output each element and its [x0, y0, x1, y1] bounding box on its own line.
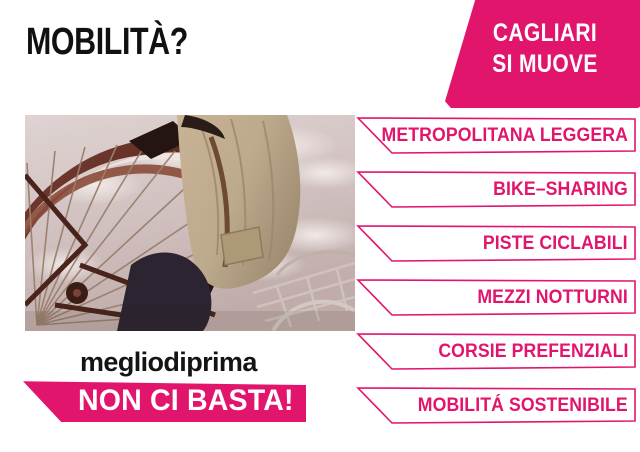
menu-item-label: METROPOLITANA LEGGERA: [382, 125, 628, 147]
brand-title: CAGLIARI SI MUOVE: [469, 18, 620, 80]
menu-item-label: CORSIE PREFENZIALI: [438, 341, 628, 363]
tagline-secondary: NON CI BASTA!: [78, 384, 294, 418]
menu-item-corsie-prefenziali[interactable]: CORSIE PREFENZIALI: [352, 328, 636, 374]
service-menu-list: METROPOLITANA LEGGERA BIKE–SHARING PISTE…: [352, 112, 636, 437]
tagline-primary: megliodiprima: [80, 347, 257, 377]
photo-artwork: [25, 115, 355, 331]
menu-item-label: BIKE–SHARING: [493, 179, 628, 201]
page-title: MOBILITÀ?: [26, 22, 188, 62]
brand-line-2: SI MUOVE: [469, 49, 620, 80]
menu-item-label: PISTE CICLABILI: [483, 233, 628, 255]
menu-item-metropolitana-leggera[interactable]: METROPOLITANA LEGGERA: [352, 112, 636, 158]
menu-item-piste-ciclabili[interactable]: PISTE CICLABILI: [352, 220, 636, 266]
menu-item-label: MOBILITÁ SOSTENIBILE: [418, 395, 628, 417]
menu-item-bike-sharing[interactable]: BIKE–SHARING: [352, 166, 636, 212]
menu-item-label: MEZZI NOTTURNI: [477, 287, 628, 309]
menu-item-mobilita-sostenibile[interactable]: MOBILITÁ SOSTENIBILE: [352, 382, 636, 428]
bicycle-photo: [25, 115, 355, 331]
brand-line-1: CAGLIARI: [469, 18, 620, 49]
slide-canvas: MOBILITÀ? CAGLIARI SI MUOVE: [0, 0, 640, 452]
menu-item-mezzi-notturni[interactable]: MEZZI NOTTURNI: [352, 274, 636, 320]
